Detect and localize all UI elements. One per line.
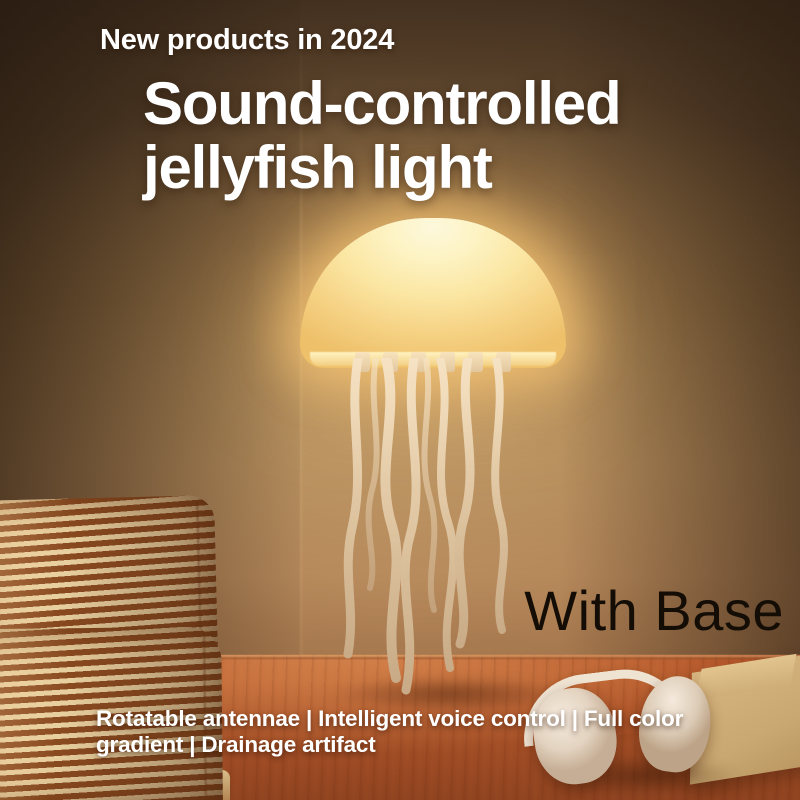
page-title: Sound-controlled jellyfish light [143,72,763,199]
feature-list-text: Rotatable antennae | Intelligent voice c… [96,706,744,759]
with-base-label: With Base [524,578,784,643]
headline-line-1: Sound-controlled [143,72,763,136]
product-advertisement: New products in 2024 Sound-controlled je… [0,0,800,800]
kicker-text: New products in 2024 [100,24,394,57]
headline-line-2: jellyfish light [143,136,763,200]
